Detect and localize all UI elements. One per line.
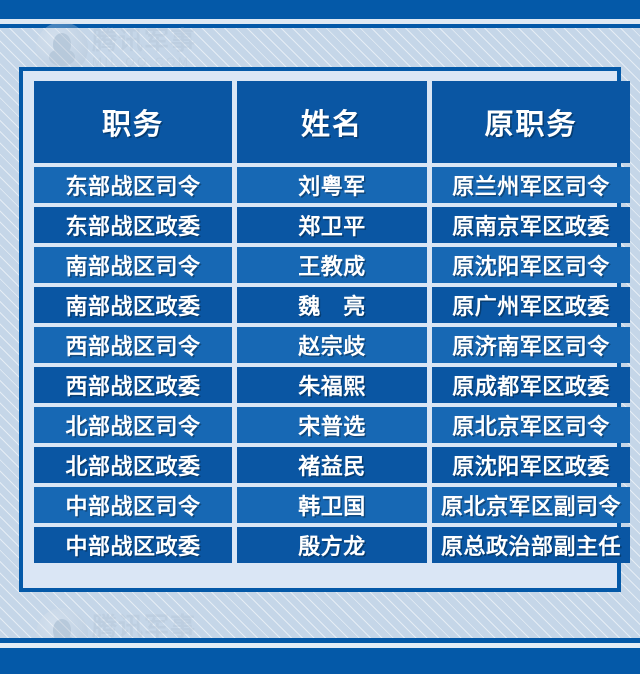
watermark-text-block: 腾讯军事 MIL.QQ.COM [92, 28, 196, 68]
cell-position: 东部战区政委 [34, 207, 232, 243]
cell-position: 西部战区政委 [34, 367, 232, 403]
cell-name: 魏 亮 [237, 287, 427, 323]
column-header-name: 姓名 [237, 81, 427, 163]
cell-former-position: 原沈阳军区司令 [432, 247, 630, 283]
cell-former-position: 原兰州军区司令 [432, 167, 630, 203]
top-banner-solid-band [0, 0, 640, 19]
cell-name: 朱福熙 [237, 367, 427, 403]
cell-name: 王教成 [237, 247, 427, 283]
table-frame: 职务 姓名 原职务 东部战区司令 刘粤军 原兰州军区司令 东部战区政委 郑卫平 … [19, 67, 621, 592]
table-row: 中部战区政委 殷方龙 原总政治部副主任 [34, 527, 630, 563]
top-banner-thin-rule [0, 24, 640, 28]
cell-name: 褚益民 [237, 447, 427, 483]
cell-former-position: 原北京军区副司令 [432, 487, 630, 523]
poster-canvas: 腾讯军事 MIL.QQ.COM 腾讯军事 MIL.QQ.COM 职务 姓名 原职… [0, 0, 640, 674]
cell-former-position: 原南京军区政委 [432, 207, 630, 243]
cell-name: 宋普选 [237, 407, 427, 443]
column-header-former-position: 原职务 [432, 81, 630, 163]
table-row: 南部战区政委 魏 亮 原广州军区政委 [34, 287, 630, 323]
cell-position: 中部战区司令 [34, 487, 232, 523]
cell-former-position: 原总政治部副主任 [432, 527, 630, 563]
cell-position: 中部战区政委 [34, 527, 232, 563]
table-row: 东部战区政委 郑卫平 原南京军区政委 [34, 207, 630, 243]
table-body: 东部战区司令 刘粤军 原兰州军区司令 东部战区政委 郑卫平 原南京军区政委 南部… [34, 167, 630, 563]
cell-name: 赵宗歧 [237, 327, 427, 363]
table-row: 南部战区司令 王教成 原沈阳军区司令 [34, 247, 630, 283]
cell-position: 西部战区司令 [34, 327, 232, 363]
cell-position: 南部战区司令 [34, 247, 232, 283]
bottom-banner-solid-band [0, 648, 640, 674]
cell-name: 韩卫国 [237, 487, 427, 523]
column-header-position: 职务 [34, 81, 232, 163]
cell-name: 殷方龙 [237, 527, 427, 563]
cell-former-position: 原北京军区司令 [432, 407, 630, 443]
table-row: 中部战区司令 韩卫国 原北京军区副司令 [34, 487, 630, 523]
table-row: 北部战区政委 褚益民 原沈阳军区政委 [34, 447, 630, 483]
table-row: 东部战区司令 刘粤军 原兰州军区司令 [34, 167, 630, 203]
table-row: 西部战区司令 赵宗歧 原济南军区司令 [34, 327, 630, 363]
cell-former-position: 原济南军区司令 [432, 327, 630, 363]
table-row: 西部战区政委 朱福熙 原成都军区政委 [34, 367, 630, 403]
table-head: 职务 姓名 原职务 [34, 81, 630, 163]
table-header-row: 职务 姓名 原职务 [34, 81, 630, 163]
cell-name: 郑卫平 [237, 207, 427, 243]
watermark-brand-cn: 腾讯军事 [92, 614, 196, 639]
military-appointments-table: 职务 姓名 原职务 东部战区司令 刘粤军 原兰州军区司令 东部战区政委 郑卫平 … [29, 77, 635, 567]
cell-position: 北部战区司令 [34, 407, 232, 443]
table-row: 北部战区司令 宋普选 原北京军区司令 [34, 407, 630, 443]
cell-position: 东部战区司令 [34, 167, 232, 203]
cell-former-position: 原成都军区政委 [432, 367, 630, 403]
watermark-brand-cn: 腾讯军事 [92, 28, 196, 53]
cell-name: 刘粤军 [237, 167, 427, 203]
cell-position: 南部战区政委 [34, 287, 232, 323]
cell-position: 北部战区政委 [34, 447, 232, 483]
cell-former-position: 原沈阳军区政委 [432, 447, 630, 483]
cell-former-position: 原广州军区政委 [432, 287, 630, 323]
